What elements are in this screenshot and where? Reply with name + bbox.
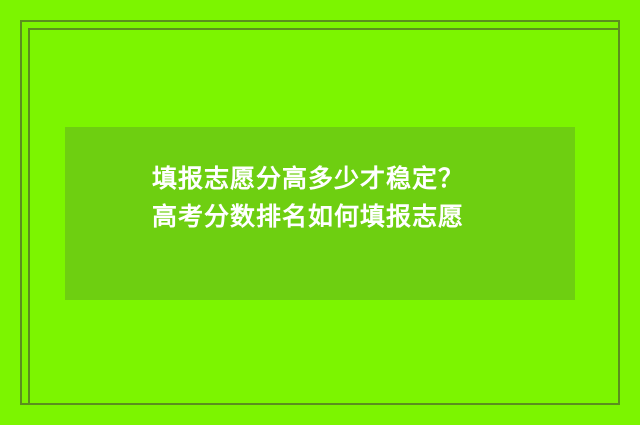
headline-text-block: 填报志愿分高多少才稳定？ 高考分数排名如何填报志愿	[152, 160, 562, 236]
headline-panel: 填报志愿分高多少才稳定？ 高考分数排名如何填报志愿	[65, 127, 575, 300]
headline-line-1: 填报志愿分高多少才稳定？	[152, 160, 562, 198]
poster-canvas: 填报志愿分高多少才稳定？ 高考分数排名如何填报志愿	[0, 0, 640, 425]
headline-line-2: 高考分数排名如何填报志愿	[152, 198, 562, 236]
